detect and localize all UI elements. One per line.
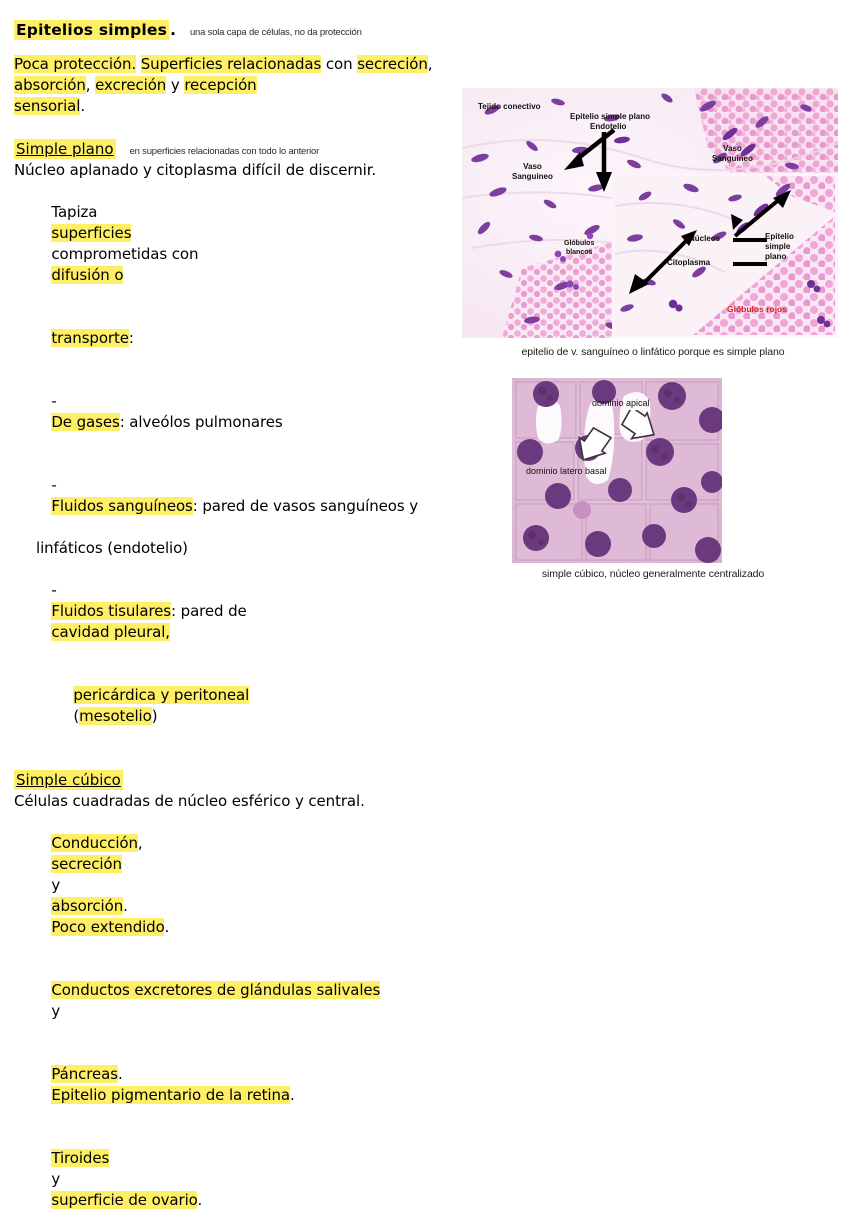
bullet-3-dash: - <box>51 581 56 599</box>
page-title: Epitelios simples. una sola capa de célu… <box>14 20 458 40</box>
cubico-l2-f: . <box>123 897 128 915</box>
intro-seg-2: Superficies relacionadas <box>141 55 321 73</box>
intro-seg-8: excreción <box>95 76 166 94</box>
plano-bullet-3-cont: pericárdica y peritoneal (mesotelio) <box>14 664 458 748</box>
section-cubico-heading-text: Simple cúbico <box>14 770 123 790</box>
label-globulos-blancos: Glóbulos blancos <box>564 240 594 257</box>
leader-line-citoplasma <box>733 260 767 268</box>
intro-seg-4: secreción <box>357 55 428 73</box>
page-title-text: Epitelios simples <box>14 20 169 40</box>
cubico-line-5: Tiroides y superficie de ovario. <box>14 1127 458 1232</box>
cubico-l4-d: . <box>290 1086 295 1104</box>
bullet-3-mid: : pared de <box>171 602 247 620</box>
cubico-l4-c: Epitelio pigmentario de la retina <box>51 1086 290 1104</box>
figure-2-caption: simple cúbico, núcleo generalmente centr… <box>460 568 846 580</box>
intro-seg-9: y <box>171 76 180 94</box>
cubico-line-1: Células cuadradas de núcleo esférico y c… <box>14 791 458 812</box>
bullet-3-cont-end: ) <box>152 707 158 725</box>
cubico-l3-a: Conductos excretores de glándulas saliva… <box>51 981 380 999</box>
bullet-2-dash: - <box>51 476 56 494</box>
section-spacer <box>14 748 458 770</box>
figure-simple-plano-micrograph: Tejido conectivo Epitelio simple plano E… <box>462 88 838 338</box>
bullet-1-term: De gases <box>51 413 119 431</box>
page-title-note: una sola capa de células, no da protecci… <box>190 27 362 38</box>
cubico-l3-b: y <box>51 1002 60 1020</box>
bullet-1-dash: - <box>51 392 56 410</box>
plano-line3-a: transporte <box>51 329 129 347</box>
intro-seg-3: con <box>326 55 353 73</box>
slide-page: Epitelios simples. una sola capa de célu… <box>0 0 848 636</box>
text-column: Epitelios simples. una sola capa de célu… <box>0 0 462 636</box>
plano-line2-d: difusión o <box>51 266 123 284</box>
intro-seg-5: , <box>428 55 433 73</box>
plano-bullet-2: - Fluidos sanguíneos: pared de vasos san… <box>14 454 458 538</box>
plano-line2-a: Tapiza <box>51 203 97 221</box>
cubico-l5-d: . <box>197 1191 202 1209</box>
bullet-2-term: Fluidos sanguíneos <box>51 497 192 515</box>
arrow-dominio-latero-basal <box>570 426 614 474</box>
intro-seg-1: Poca protección. <box>14 55 136 73</box>
cubico-l2-g: Poco extendido <box>51 918 164 936</box>
cubico-l2-d: y <box>51 876 60 894</box>
plano-line-2: Tapiza superficies comprometidas con dif… <box>14 181 458 307</box>
plano-line2-b: superficies <box>51 224 131 242</box>
cubico-l2-h: . <box>164 918 169 936</box>
label-tejido-conectivo: Tejido conectivo <box>478 102 541 112</box>
figure-1-caption: epitelio de v. sanguíneo o linfático por… <box>460 346 846 358</box>
intro-seg-6: absorción <box>14 76 86 94</box>
plano-bullet-1: - De gases: alveólos pulmonares <box>14 370 458 454</box>
section-plano-body: Núcleo aplanado y citoplasma difícil de … <box>14 160 458 748</box>
leader-line-nucleos <box>733 236 767 244</box>
plano-bullet-3: - Fluidos tisulares: pared de cavidad pl… <box>14 559 458 664</box>
bullet-3-term: Fluidos tisulares <box>51 602 171 620</box>
intro-seg-7: , <box>86 76 91 94</box>
plano-line-3: transporte: <box>14 307 458 370</box>
section-heading-note: en superficies relacionadas con todo lo … <box>130 146 320 157</box>
arrow-nucleos-upright <box>725 188 795 240</box>
plano-line2-c: comprometidas con <box>51 245 198 263</box>
section-heading-text: Simple plano <box>14 139 116 159</box>
figure-column: Tejido conectivo Epitelio simple plano E… <box>462 0 848 636</box>
section-heading-simple-cubico: Simple cúbico <box>14 770 458 790</box>
plano-line3-b: : <box>129 329 134 347</box>
intro-seg-10: recepción <box>184 76 256 94</box>
label-dominio-apical: dominio apical <box>592 398 650 408</box>
label-globulos-rojos: Glóbulos rojos <box>727 304 787 314</box>
cubico-l4-a: Páncreas <box>51 1065 118 1083</box>
section-heading-simple-plano: Simple plano en superficies relacionadas… <box>14 139 458 159</box>
label-vaso-sanguineo-left: Vaso Sanguineo <box>512 162 553 182</box>
label-vaso-sanguineo-right: Vaso Sanguineo <box>712 144 753 164</box>
arrow-dominio-apical <box>616 410 660 454</box>
cubico-line-3: Conductos excretores de glándulas saliva… <box>14 959 458 1043</box>
cubico-l4-b: . <box>118 1065 123 1083</box>
bullet-3-comma: , <box>165 623 170 641</box>
cubico-l2-b: , <box>138 834 143 852</box>
cubico-l2-a: Conducción <box>51 834 138 852</box>
figure-inset-panel: Núcleos Citoplasma Epitelio simple plano… <box>612 173 838 338</box>
cubico-line-4: Páncreas. Epitelio pigmentario de la ret… <box>14 1043 458 1127</box>
intro-seg-12: . <box>80 97 85 115</box>
plano-bullet-2-cont: linfáticos (endotelio) <box>14 538 458 559</box>
plano-line-1: Núcleo aplanado y citoplasma difícil de … <box>14 160 458 181</box>
intro-paragraph: Poca protección. Superficies relacionada… <box>14 54 458 117</box>
cubico-l2-c: secreción <box>51 855 122 873</box>
section-cubico-body: Células cuadradas de núcleo esférico y c… <box>14 791 458 1232</box>
intro-seg-11: sensorial <box>14 97 80 115</box>
cubico-l5-b: y <box>51 1170 60 1188</box>
cubico-l5-c: superficie de ovario <box>51 1191 197 1209</box>
label-epitelio-simple-plano: Epitelio simple plano <box>570 112 650 122</box>
cubico-l5-a: Tiroides <box>51 1149 109 1167</box>
cubico-l2-e: absorción <box>51 897 123 915</box>
bullet-3-term-2: cavidad pleural <box>51 623 165 641</box>
figure-simple-cubico-micrograph: dominio apical dominio latero basal <box>512 378 722 563</box>
bullet-2-rest: : pared de vasos sanguíneos y <box>193 497 418 515</box>
bullet-3-cont-term-2: mesotelio <box>79 707 152 725</box>
cubico-line-2: Conducción, secreción y absorción. Poco … <box>14 812 458 959</box>
bullet-3-cont-term: pericárdica y peritoneal <box>73 686 249 704</box>
page-title-period: . <box>169 21 176 39</box>
arrow-citoplasma-diagonal <box>627 224 705 296</box>
bullet-1-rest: : alveólos pulmonares <box>120 413 283 431</box>
